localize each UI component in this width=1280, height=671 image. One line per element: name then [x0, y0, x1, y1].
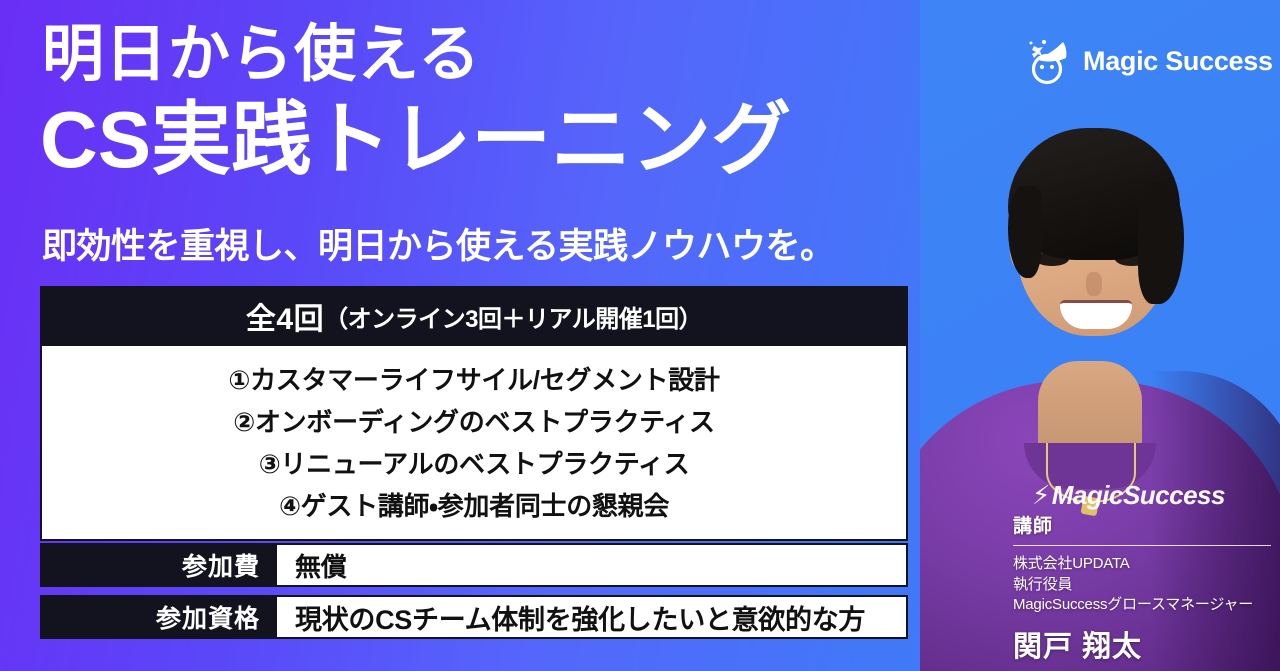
shirt-bolt-icon: ⚡ [1032, 480, 1050, 510]
speaker-affiliation-2: 執行役員 [1013, 575, 1271, 596]
schedule-header-main: 全4回 [246, 294, 324, 338]
info-row-fee: 参加費 無償 [40, 543, 908, 587]
speaker-role-label: 講師 [1013, 511, 1271, 538]
nose [1086, 272, 1102, 296]
smile [1060, 300, 1132, 329]
brand-name: Magic Success [1083, 46, 1273, 77]
schedule-panel: 全4回 （オンライン3回＋リアル開催1回） ①カスタマーライフサイル/セグメント… [40, 286, 908, 541]
headline-line-2: CS実践トレーニング [40, 100, 791, 180]
promo-banner: ⚡MagicSuccess Magic Success 明日から使える CS実践… [0, 0, 1280, 671]
brand-logo[interactable]: Magic Success [1022, 36, 1273, 86]
schedule-header-note: （オンライン3回＋リアル開催1回） [324, 299, 702, 334]
headline-subtitle: 即効性を重視し、明日から使える実践ノウハウを。 [42, 218, 834, 269]
schedule-header: 全4回 （オンライン3回＋リアル開催1回） [40, 286, 908, 346]
speaker-name: 関戸 翔太 [1013, 623, 1271, 665]
list-item: ②オンボーディングのベストプラクティス [233, 402, 714, 439]
schedule-list: ①カスタマーライフサイル/セグメント設計 ②オンボーディングのベストプラクティス… [40, 346, 908, 541]
speaker-credentials: 講師 株式会社UPDATA 執行役員 MagicSuccessグロースマネージャ… [1013, 511, 1271, 665]
info-row-value: 現状のCSチーム体制を強化したいと意欲的な方 [277, 597, 906, 637]
wizard-hat-face-icon [1022, 36, 1074, 86]
hair-side-left [1008, 186, 1042, 278]
shirt-logo: ⚡MagicSuccess [1032, 480, 1225, 511]
info-row-value: 無償 [277, 545, 906, 585]
speaker-divider [1013, 545, 1271, 546]
shirt-logo-text: MagicSuccess [1052, 480, 1225, 510]
list-item: ①カスタマーライフサイル/セグメント設計 [228, 360, 719, 397]
list-item: ④ゲスト講師・参加者同士の懇親会 [279, 486, 669, 523]
info-row-label: 参加費 [42, 545, 277, 585]
speaker-affiliation-3: MagicSuccessグロースマネージャー [1013, 595, 1271, 616]
info-row-eligibility: 参加資格 現状のCSチーム体制を強化したいと意欲的な方 [40, 595, 908, 639]
speaker-affiliation-1: 株式会社UPDATA [1013, 554, 1271, 575]
info-row-label: 参加資格 [42, 597, 277, 637]
list-item: ③リニューアルのベストプラクティス [259, 444, 690, 481]
headline-line-1: 明日から使える [42, 24, 481, 86]
